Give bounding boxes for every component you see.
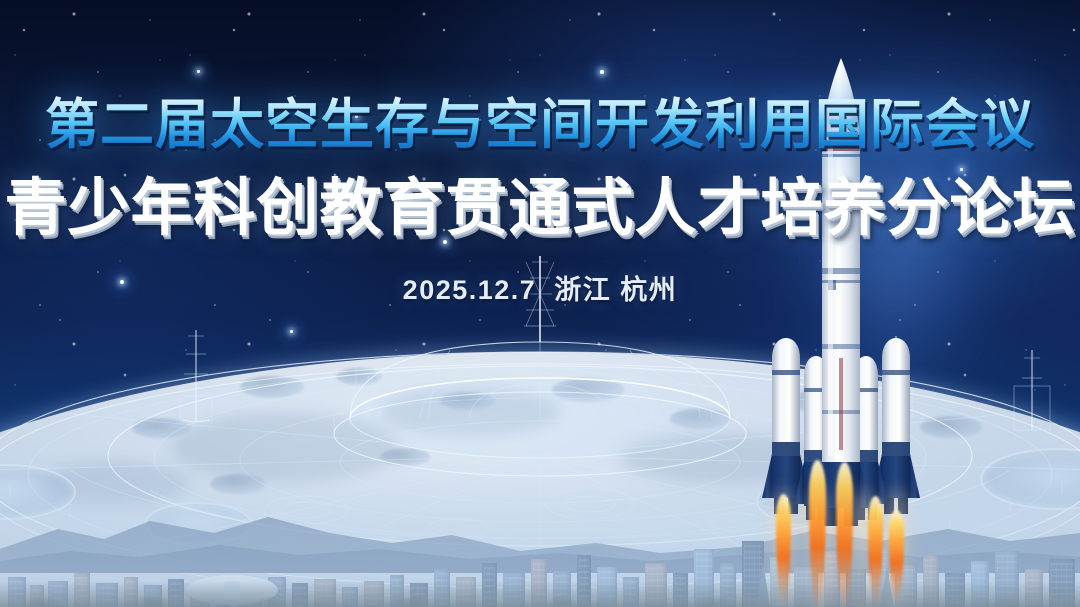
lunar-crater (670, 408, 732, 429)
lunar-mare (170, 412, 400, 482)
lunar-crater (336, 368, 382, 385)
lunar-crater (440, 392, 494, 410)
lunar-crater (26, 392, 70, 408)
lunar-surface (0, 352, 1080, 607)
conference-poster: 第二届太空生存与空间开发利用国际会议 青少年科创教育贯通式人才培养分论坛 202… (0, 0, 1080, 607)
lunar-crater (132, 418, 190, 438)
page-title: 第二届太空生存与空间开发利用国际会议 (0, 96, 1080, 154)
bright-star (197, 70, 200, 73)
lunar-crater (210, 474, 266, 494)
event-date: 2025.12.7 (403, 275, 537, 305)
lunar-crater (380, 448, 430, 466)
lunar-crater (920, 416, 982, 438)
lunar-crater-ring (756, 474, 888, 528)
lunar-crater-ring (144, 502, 252, 546)
subtitle: 青少年科创教育贯通式人才培养分论坛 (0, 176, 1080, 242)
bright-star (600, 70, 604, 74)
poster-text-block: 第二届太空生存与空间开发利用国际会议 青少年科创教育贯通式人才培养分论坛 202… (0, 96, 1080, 307)
event-location: 浙江 杭州 (554, 275, 677, 305)
event-meta: 2025.12.7浙江 杭州 (0, 268, 1080, 307)
lunar-crater (240, 376, 304, 398)
lunar-crater (790, 388, 870, 414)
lunar-crater-ring (980, 448, 1080, 510)
lunar-crater (552, 378, 624, 402)
bright-star (290, 330, 293, 333)
